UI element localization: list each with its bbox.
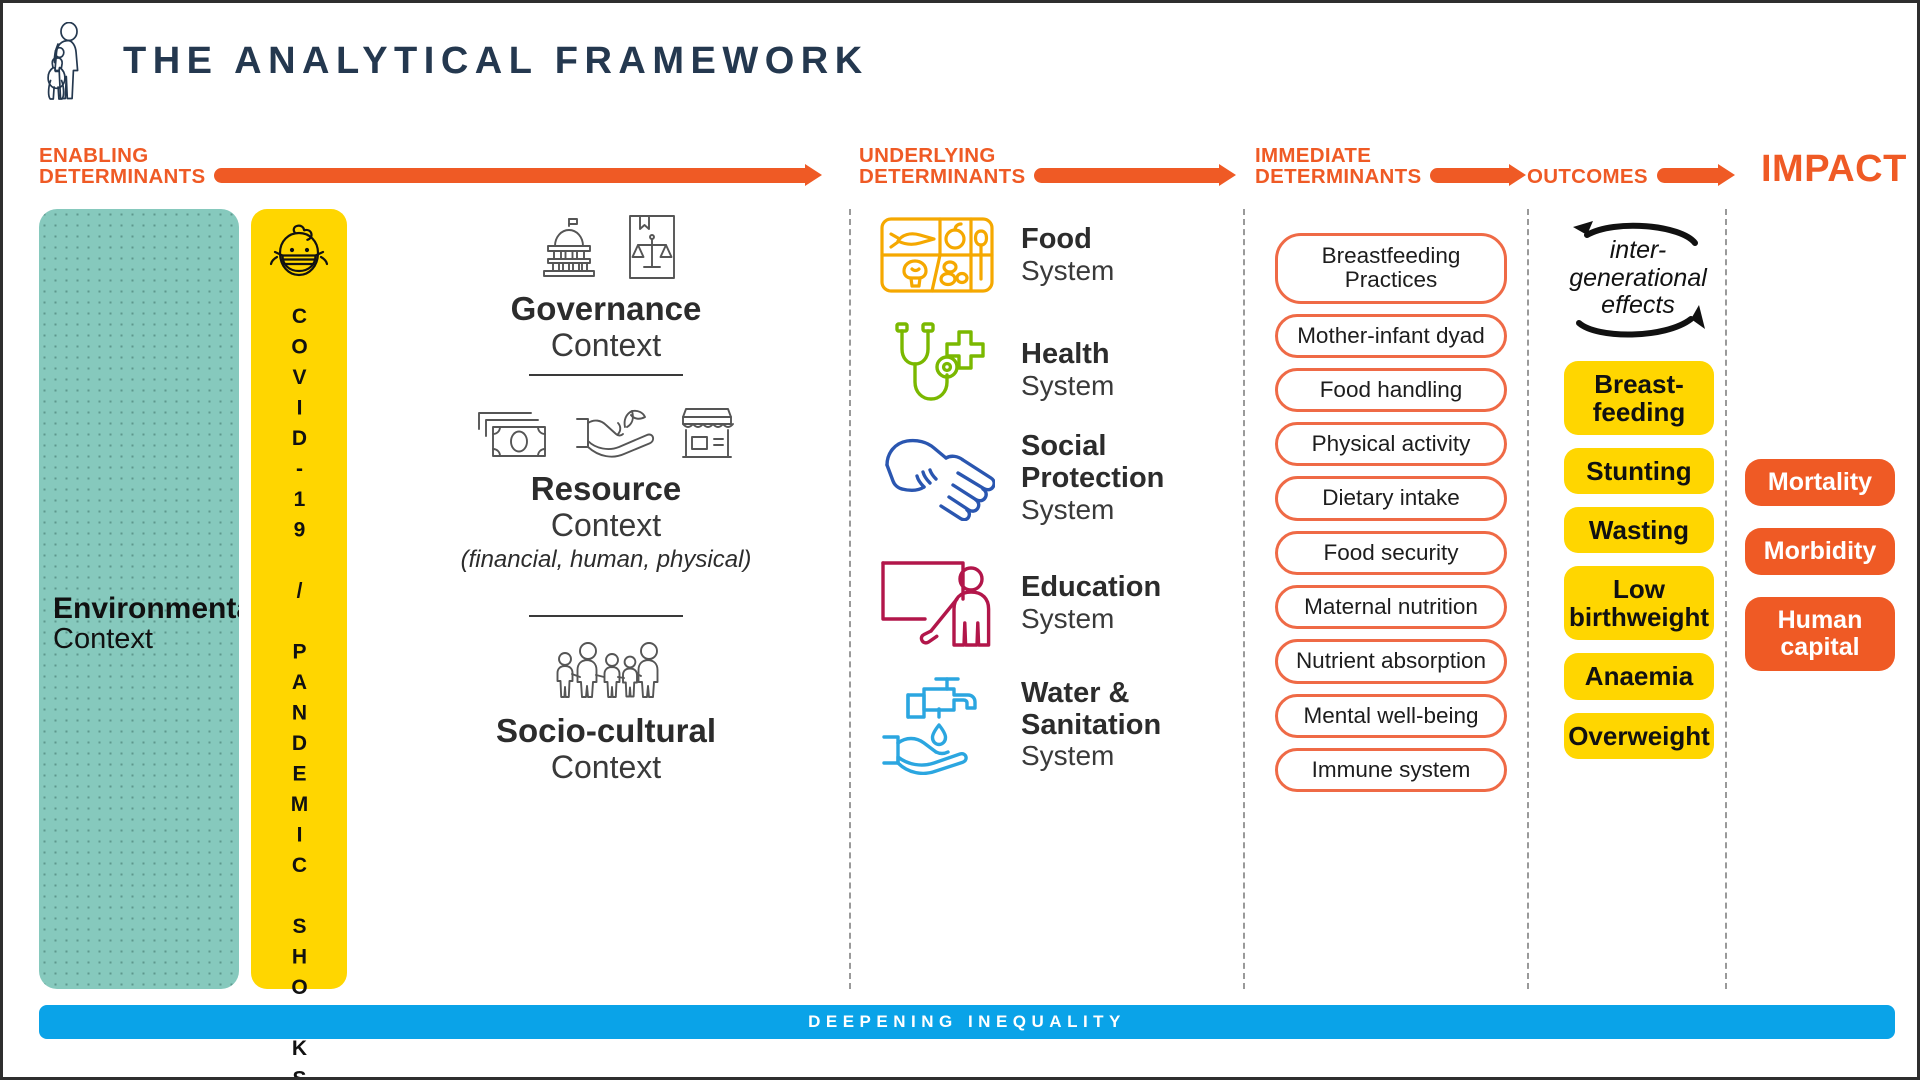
determinant-pill[interactable]: Physical activity: [1275, 422, 1507, 466]
masked-baby-icon: [268, 223, 330, 289]
stethoscope-cross-icon: [875, 320, 999, 420]
arrow-enabling-to-underlying: [214, 164, 822, 186]
stage-outcomes-label: OUTCOMES: [1527, 166, 1648, 187]
hand-with-seedling-icon: [574, 405, 658, 461]
systems-column: Food System He: [875, 209, 1255, 989]
divider-outcomes: [1527, 209, 1529, 989]
header: THE ANALYTICAL FRAMEWORK: [39, 21, 869, 101]
context-socio-cultural: Socio-cultural Context: [371, 641, 841, 786]
stage-impact-label: IMPACT: [1761, 151, 1907, 187]
context-resource: Resource Context (financial, human, phys…: [371, 405, 841, 574]
environmental-context-label: Environmental Context: [53, 593, 239, 654]
outcome-badge[interactable]: Breast- feeding: [1564, 361, 1714, 435]
determinant-pill[interactable]: Food handling: [1275, 368, 1507, 412]
determinant-pill[interactable]: Breastfeeding Practices: [1275, 233, 1507, 304]
contexts-column: Governance Context: [371, 209, 841, 989]
food-tray-icon: [875, 209, 999, 301]
impact-badge[interactable]: Morbidity: [1745, 528, 1895, 575]
stage-label-row: ENABLING DETERMINANTS UNDERLYING DETERMI…: [39, 131, 1899, 187]
determinant-pill[interactable]: Maternal nutrition: [1275, 585, 1507, 629]
arrow-immediate-to-outcomes: [1430, 164, 1526, 186]
governance-sub: Context: [371, 328, 841, 364]
stage-enabling: ENABLING DETERMINANTS: [39, 145, 822, 187]
context-rule-1: [529, 374, 683, 376]
determinant-pill[interactable]: Mental well-being: [1275, 694, 1507, 738]
outcome-badge[interactable]: Anaemia: [1564, 653, 1714, 699]
determinant-pill[interactable]: Mother-infant dyad: [1275, 314, 1507, 358]
resource-sub: Context: [371, 508, 841, 544]
covid-label-vertical: COVID-19 / PANDEMIC SHOCKS: [251, 305, 347, 979]
outcomes-column: inter-generational effects Breast- feedi…: [1549, 213, 1729, 772]
outcome-badge[interactable]: Stunting: [1564, 448, 1714, 494]
determinant-pill[interactable]: Nutrient absorption: [1275, 639, 1507, 683]
intergenerational-effects-label: inter-generational effects: [1549, 237, 1727, 320]
system-water-sanitation: Water & Sanitation System: [875, 675, 1161, 775]
immediate-determinants-list: Breastfeeding Practices Mother-infant dy…: [1275, 233, 1507, 802]
socio-cultural-name: Socio-cultural: [371, 713, 841, 750]
system-food: Food System: [875, 209, 1114, 301]
capitol-building-icon: [532, 215, 606, 281]
context-rule-2: [529, 615, 683, 617]
stage-impact: IMPACT: [1761, 151, 1907, 187]
determinant-pill[interactable]: Immune system: [1275, 748, 1507, 792]
stage-outcomes: OUTCOMES: [1527, 164, 1735, 187]
context-governance: Governance Context: [371, 213, 841, 364]
environmental-context-block: Environmental Context: [39, 209, 239, 989]
environmental-sub: Context: [53, 624, 239, 654]
stage-immediate-label: IMMEDIATE DETERMINANTS: [1255, 145, 1421, 187]
stage-enabling-label: ENABLING DETERMINANTS: [39, 145, 205, 187]
environmental-name: Environmental: [53, 593, 239, 624]
system-social-protection-label: Social Protection System: [1021, 431, 1164, 526]
governance-name: Governance: [371, 291, 841, 328]
banknotes-icon: [474, 407, 556, 461]
system-social-protection: Social Protection System: [875, 431, 1164, 526]
arrow-outcomes-to-impact: [1657, 164, 1735, 186]
family-group-icon: [550, 641, 662, 703]
stage-underlying-label: UNDERLYING DETERMINANTS: [859, 145, 1025, 187]
impact-badge[interactable]: Mortality: [1745, 459, 1895, 506]
outcome-badge[interactable]: Wasting: [1564, 507, 1714, 553]
mother-and-child-icon: [39, 22, 101, 100]
resource-name: Resource: [371, 471, 841, 508]
shop-storefront-icon: [676, 405, 738, 461]
outcome-badge[interactable]: Low birthweight: [1564, 566, 1714, 640]
intergenerational-effects-group: inter-generational effects: [1549, 213, 1727, 349]
impact-column: Mortality Morbidity Human capital: [1745, 459, 1895, 693]
deepening-inequality-bar: DEEPENING INEQUALITY: [39, 1005, 1895, 1039]
system-water-sanitation-label: Water & Sanitation System: [1021, 678, 1161, 773]
outcome-badge[interactable]: Overweight: [1564, 713, 1714, 759]
law-scales-document-icon: [624, 213, 680, 281]
page-title: THE ANALYTICAL FRAMEWORK: [123, 40, 869, 83]
system-health-label: Health System: [1021, 339, 1114, 402]
determinant-pill[interactable]: Food security: [1275, 531, 1507, 575]
system-education-label: Education System: [1021, 572, 1161, 635]
covid-pandemic-shocks-block: COVID-19 / PANDEMIC SHOCKS: [251, 209, 347, 989]
teacher-blackboard-icon: [875, 557, 999, 649]
stage-underlying: UNDERLYING DETERMINANTS: [859, 145, 1236, 187]
system-health: Health System: [875, 320, 1114, 420]
arrow-underlying-to-immediate: [1034, 164, 1236, 186]
deepening-inequality-label: DEEPENING INEQUALITY: [808, 1012, 1126, 1032]
tap-water-hand-icon: [875, 675, 999, 775]
system-food-label: Food System: [1021, 224, 1114, 287]
socio-cultural-sub: Context: [371, 750, 841, 786]
analytical-framework-diagram: THE ANALYTICAL FRAMEWORK ENABLING DETERM…: [0, 0, 1920, 1080]
determinant-pill[interactable]: Dietary intake: [1275, 476, 1507, 520]
helping-hands-icon: [875, 435, 999, 521]
socio-cultural-icons: [371, 641, 841, 703]
system-education: Education System: [875, 557, 1161, 649]
governance-icons: [371, 213, 841, 281]
divider-underlying: [849, 209, 851, 989]
stage-immediate: IMMEDIATE DETERMINANTS: [1255, 145, 1526, 187]
impact-badge[interactable]: Human capital: [1745, 597, 1895, 671]
resource-note: (financial, human, physical): [371, 546, 841, 574]
resource-icons: [371, 405, 841, 461]
